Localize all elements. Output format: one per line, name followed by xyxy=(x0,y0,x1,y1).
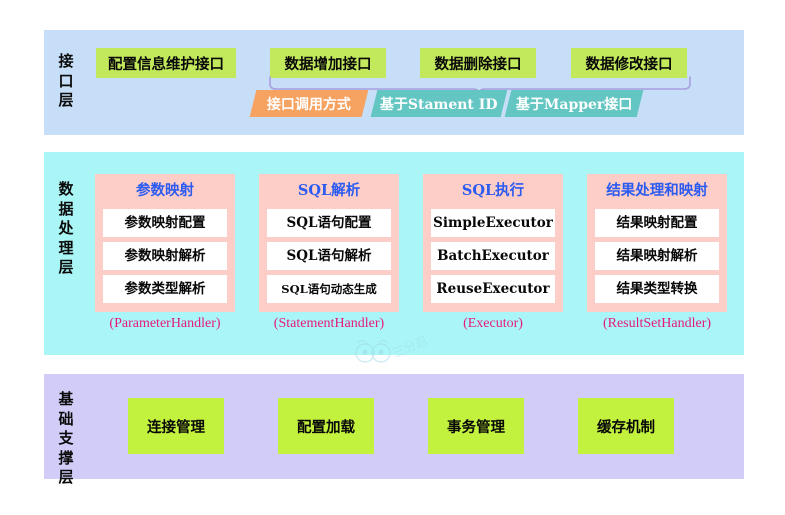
handler-label-resultset: (ResultSetHandler) xyxy=(577,316,737,332)
item-sql-dynamic-generation[interactable]: SQL语句动态生成 xyxy=(267,275,391,303)
api-box-data-insert[interactable]: 数据增加接口 xyxy=(270,48,386,78)
group-heading-parameter-mapping: 参数映射 xyxy=(95,178,235,204)
item-result-mapping-config[interactable]: 结果映射配置 xyxy=(595,209,719,237)
ribbon-invocation-method[interactable]: 接口调用方式 xyxy=(250,90,369,117)
interface-layer: 接 口 层 配置信息维护接口 数据增加接口 数据删除接口 数据修改接口 接口调用… xyxy=(44,30,744,135)
handler-label-statement: (StatementHandler) xyxy=(249,316,409,332)
api-box-config-maintenance[interactable]: 配置信息维护接口 xyxy=(96,48,236,78)
group-heading-result-mapping: 结果处理和映射 xyxy=(587,178,727,204)
group-sql-parsing: SQL解析 SQL语句配置 SQL语句解析 SQL语句动态生成 xyxy=(259,174,399,312)
base-box-connection-management[interactable]: 连接管理 xyxy=(128,398,224,454)
group-heading-sql-parsing: SQL解析 xyxy=(259,178,399,204)
item-simple-executor[interactable]: SimpleExecutor xyxy=(431,209,555,237)
handler-label-executor: (Executor) xyxy=(413,316,573,332)
handler-label-parameter: (ParameterHandler) xyxy=(85,316,245,332)
base-box-transaction-management[interactable]: 事务管理 xyxy=(428,398,524,454)
item-sql-statement-config[interactable]: SQL语句配置 xyxy=(267,209,391,237)
item-result-mapping-parse[interactable]: 结果映射解析 xyxy=(595,242,719,270)
base-support-layer: 基 础 支 撑 层 连接管理 配置加载 事务管理 缓存机制 xyxy=(44,374,744,479)
group-sql-execution: SQL执行 SimpleExecutor BatchExecutor Reuse… xyxy=(423,174,563,312)
api-box-data-update[interactable]: 数据修改接口 xyxy=(571,48,687,78)
data-processing-layer: 数 据 处 理 层 参数映射 参数映射配置 参数映射解析 参数类型解析 (Par… xyxy=(44,152,744,355)
item-reuse-executor[interactable]: ReuseExecutor xyxy=(431,275,555,303)
diagram-canvas: 接 口 层 配置信息维护接口 数据增加接口 数据删除接口 数据修改接口 接口调用… xyxy=(0,0,785,515)
base-support-layer-title: 基 础 支 撑 层 xyxy=(53,390,79,488)
ribbon-mapper-interface[interactable]: 基于Mapper接口 xyxy=(505,90,644,117)
item-parameter-mapping-config[interactable]: 参数映射配置 xyxy=(103,209,227,237)
group-heading-sql-execution: SQL执行 xyxy=(423,178,563,204)
interface-layer-title: 接 口 层 xyxy=(53,52,79,111)
item-batch-executor[interactable]: BatchExecutor xyxy=(431,242,555,270)
base-box-cache-mechanism[interactable]: 缓存机制 xyxy=(578,398,674,454)
group-parameter-mapping: 参数映射 参数映射配置 参数映射解析 参数类型解析 xyxy=(95,174,235,312)
item-parameter-type-parse[interactable]: 参数类型解析 xyxy=(103,275,227,303)
item-parameter-mapping-parse[interactable]: 参数映射解析 xyxy=(103,242,227,270)
data-processing-layer-title: 数 据 处 理 层 xyxy=(53,180,79,278)
ribbon-statement-id[interactable]: 基于Stament ID xyxy=(371,90,508,117)
item-sql-statement-parse[interactable]: SQL语句解析 xyxy=(267,242,391,270)
item-result-type-convert[interactable]: 结果类型转换 xyxy=(595,275,719,303)
api-box-data-delete[interactable]: 数据删除接口 xyxy=(420,48,536,78)
group-result-mapping: 结果处理和映射 结果映射配置 结果映射解析 结果类型转换 xyxy=(587,174,727,312)
base-box-config-loading[interactable]: 配置加载 xyxy=(278,398,374,454)
